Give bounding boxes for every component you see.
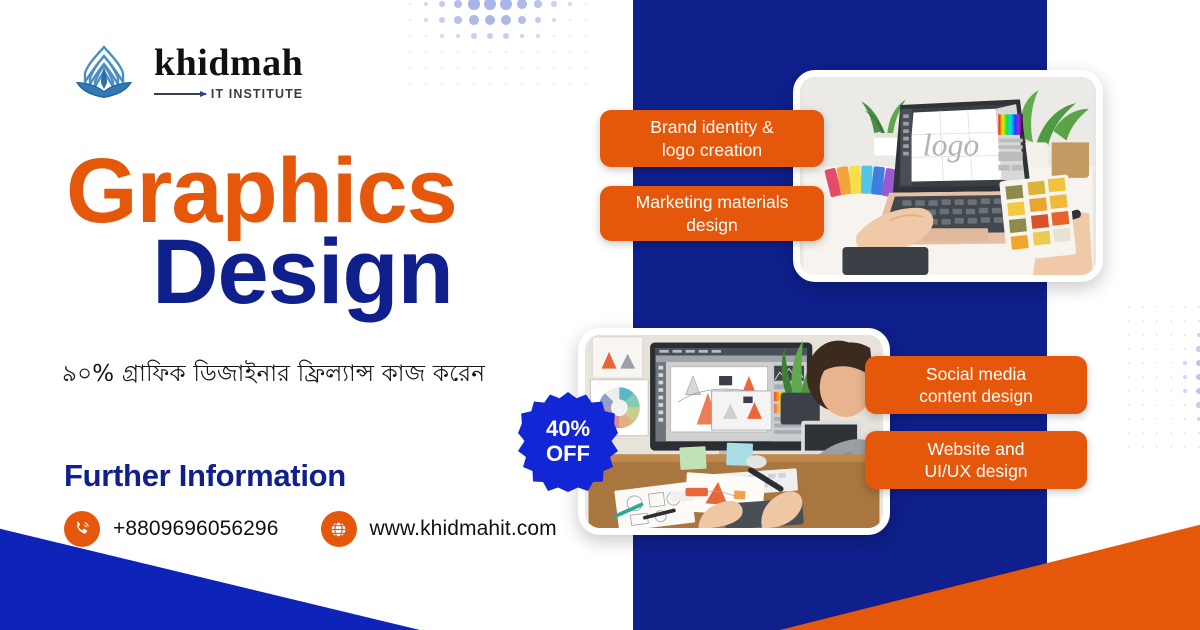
- halftone-dot: [546, 76, 562, 92]
- halftone-dot: [402, 60, 418, 76]
- halftone-dot: [562, 44, 578, 60]
- halftone-dot: [1136, 356, 1150, 370]
- halftone-dots-top: [402, 0, 594, 92]
- halftone-dot: [1136, 426, 1150, 440]
- halftone-dot: [1122, 384, 1136, 398]
- halftone-dot: [1178, 440, 1192, 454]
- halftone-dot: [1122, 412, 1136, 426]
- halftone-dot: [498, 60, 514, 76]
- brand-wordmark: khidmah IT INSTITUTE: [154, 44, 303, 101]
- halftone-dot: [1136, 412, 1150, 426]
- halftone-dot: [418, 12, 434, 28]
- contact-row: +8809696056296 www.khidmahit.com: [64, 511, 557, 547]
- phone-icon: [64, 511, 100, 547]
- svg-text:logo: logo: [923, 127, 979, 162]
- halftone-dot: [434, 28, 450, 44]
- halftone-dot: [530, 44, 546, 60]
- service-line-2: content design: [919, 386, 1033, 406]
- halftone-dot: [1178, 426, 1192, 440]
- halftone-dot: [1164, 342, 1178, 356]
- service-line-2: UI/UX design: [924, 461, 1027, 481]
- headline-line-2: Design: [66, 229, 457, 316]
- website-url: www.khidmahit.com: [370, 517, 557, 541]
- halftone-dot: [1164, 300, 1178, 314]
- halftone-dot: [450, 0, 466, 12]
- laptop-logo-design-photo: logo: [793, 70, 1103, 282]
- halftone-dot: [1122, 370, 1136, 384]
- halftone-dot: [1136, 314, 1150, 328]
- halftone-dot: [1150, 384, 1164, 398]
- halftone-dot: [1122, 342, 1136, 356]
- halftone-dot: [514, 76, 530, 92]
- halftone-dot: [530, 0, 546, 12]
- subtitle-bangla: ৯০% গ্রাফিক ডিজাইনার ফ্রিল্যান্স কাজ করে…: [62, 355, 485, 394]
- halftone-dot: [1178, 356, 1192, 370]
- halftone-dot: [546, 0, 562, 12]
- brand-logo: khidmah IT INSTITUTE: [72, 40, 303, 104]
- service-pill-text: Website and UI/UX design: [924, 438, 1027, 483]
- website-contact[interactable]: www.khidmahit.com: [321, 511, 557, 547]
- halftone-dot: [1192, 328, 1200, 342]
- halftone-dot: [1136, 398, 1150, 412]
- halftone-dot: [1164, 314, 1178, 328]
- halftone-dot: [562, 60, 578, 76]
- halftone-dot: [482, 0, 498, 12]
- halftone-dot: [402, 76, 418, 92]
- halftone-dot: [562, 28, 578, 44]
- promo-banner: khidmah IT INSTITUTE Graphics Design ৯০%…: [0, 0, 1200, 630]
- halftone-dot: [482, 60, 498, 76]
- phone-contact[interactable]: +8809696056296: [64, 511, 279, 547]
- halftone-dot: [498, 76, 514, 92]
- service-line-1: Website and: [928, 439, 1025, 459]
- halftone-dot: [514, 12, 530, 28]
- halftone-dot: [466, 60, 482, 76]
- halftone-dot: [1136, 370, 1150, 384]
- halftone-dot: [1178, 398, 1192, 412]
- halftone-dot: [514, 0, 530, 12]
- halftone-dot: [402, 28, 418, 44]
- further-information-heading: Further Information: [64, 458, 346, 494]
- halftone-dot: [1164, 328, 1178, 342]
- halftone-dot: [1150, 300, 1164, 314]
- halftone-dot: [1164, 384, 1178, 398]
- service-line-1: Marketing materials: [636, 192, 789, 212]
- halftone-dot: [1192, 384, 1200, 398]
- brand-tagline-row: IT INSTITUTE: [154, 87, 303, 101]
- halftone-dot: [498, 44, 514, 60]
- halftone-dot: [418, 76, 434, 92]
- halftone-dot: [578, 60, 594, 76]
- halftone-dot: [1164, 398, 1178, 412]
- halftone-dot: [402, 0, 418, 12]
- halftone-dot: [1122, 328, 1136, 342]
- halftone-dot: [402, 12, 418, 28]
- halftone-dot: [562, 0, 578, 12]
- halftone-dot: [466, 28, 482, 44]
- halftone-dot: [450, 28, 466, 44]
- desktop-designer-photo: 100%: [578, 328, 890, 535]
- halftone-dot: [1178, 412, 1192, 426]
- halftone-dot: [514, 28, 530, 44]
- halftone-dot: [434, 12, 450, 28]
- halftone-dot: [562, 76, 578, 92]
- service-line-2: design: [686, 215, 738, 235]
- halftone-dot: [418, 28, 434, 44]
- halftone-dot: [482, 12, 498, 28]
- halftone-dot: [1136, 342, 1150, 356]
- halftone-dot: [450, 76, 466, 92]
- halftone-dot: [1192, 426, 1200, 440]
- halftone-dot: [1122, 356, 1136, 370]
- halftone-dot: [1150, 412, 1164, 426]
- halftone-dot: [1192, 370, 1200, 384]
- brand-tagline: IT INSTITUTE: [211, 87, 303, 101]
- halftone-dot: [1192, 342, 1200, 356]
- halftone-dot: [530, 12, 546, 28]
- halftone-dot: [434, 60, 450, 76]
- halftone-dot: [578, 12, 594, 28]
- halftone-dot: [466, 0, 482, 12]
- halftone-dot: [1178, 370, 1192, 384]
- halftone-dot: [1164, 440, 1178, 454]
- halftone-dot: [482, 76, 498, 92]
- halftone-dot: [530, 60, 546, 76]
- halftone-dot: [1150, 328, 1164, 342]
- halftone-dot: [1192, 398, 1200, 412]
- halftone-dot: [482, 44, 498, 60]
- halftone-dot: [578, 0, 594, 12]
- service-pill-text: Marketing materials design: [636, 191, 789, 236]
- halftone-dot: [1192, 440, 1200, 454]
- halftone-dot: [1122, 300, 1136, 314]
- halftone-dot: [1122, 426, 1136, 440]
- halftone-dot: [514, 60, 530, 76]
- halftone-dot: [466, 76, 482, 92]
- globe-icon: [321, 511, 357, 547]
- halftone-dot: [434, 44, 450, 60]
- halftone-dot: [1164, 356, 1178, 370]
- halftone-dot: [1150, 370, 1164, 384]
- halftone-dot: [498, 0, 514, 12]
- halftone-dot: [1136, 300, 1150, 314]
- halftone-dot: [1136, 328, 1150, 342]
- halftone-dot: [546, 28, 562, 44]
- service-pill-brand-identity[interactable]: Brand identity & logo creation: [600, 110, 824, 167]
- halftone-dot: [434, 76, 450, 92]
- halftone-dot: [1150, 440, 1164, 454]
- halftone-dot: [498, 28, 514, 44]
- halftone-dot: [1178, 300, 1192, 314]
- phone-number: +8809696056296: [113, 517, 279, 541]
- halftone-dots-right: [1122, 300, 1200, 454]
- service-pill-text: Brand identity & logo creation: [650, 116, 774, 161]
- halftone-dot: [1178, 342, 1192, 356]
- tagline-rule: [154, 93, 206, 95]
- halftone-dot: [450, 60, 466, 76]
- halftone-dot: [546, 12, 562, 28]
- halftone-dot: [450, 44, 466, 60]
- halftone-dot: [1122, 440, 1136, 454]
- halftone-dot: [482, 28, 498, 44]
- halftone-dot: [1164, 426, 1178, 440]
- service-pill-website-uiux[interactable]: Website and UI/UX design: [865, 431, 1087, 489]
- halftone-dot: [1150, 398, 1164, 412]
- discount-percent: 40%: [546, 417, 590, 442]
- page-title: Graphics Design: [66, 148, 457, 317]
- brand-name: khidmah: [154, 44, 303, 82]
- halftone-dot: [1178, 384, 1192, 398]
- halftone-dot: [1164, 412, 1178, 426]
- halftone-dot: [562, 12, 578, 28]
- halftone-dot: [1192, 300, 1200, 314]
- halftone-dot: [1178, 328, 1192, 342]
- service-line-1: Brand identity &: [650, 117, 774, 137]
- halftone-dot: [546, 60, 562, 76]
- halftone-dot: [466, 44, 482, 60]
- halftone-dot: [1122, 314, 1136, 328]
- discount-label: OFF: [546, 442, 590, 467]
- service-pill-social-media[interactable]: Social media content design: [865, 356, 1087, 414]
- service-pill-marketing-materials[interactable]: Marketing materials design: [600, 186, 824, 241]
- halftone-dot: [1136, 440, 1150, 454]
- halftone-dot: [1150, 342, 1164, 356]
- halftone-dot: [1192, 356, 1200, 370]
- halftone-dot: [578, 28, 594, 44]
- halftone-dot: [530, 28, 546, 44]
- halftone-dot: [466, 12, 482, 28]
- halftone-dot: [1136, 384, 1150, 398]
- halftone-dot: [1122, 398, 1136, 412]
- halftone-dot: [450, 12, 466, 28]
- service-pill-text: Social media content design: [919, 363, 1033, 408]
- halftone-dot: [530, 76, 546, 92]
- halftone-dot: [1150, 426, 1164, 440]
- mosque-book-pen-emblem-icon: [72, 40, 136, 104]
- service-line-2: logo creation: [662, 140, 762, 160]
- halftone-dot: [418, 60, 434, 76]
- halftone-dot: [578, 44, 594, 60]
- halftone-dot: [1178, 314, 1192, 328]
- halftone-dot: [1164, 370, 1178, 384]
- halftone-dot: [434, 0, 450, 12]
- halftone-dot: [578, 76, 594, 92]
- halftone-dot: [418, 44, 434, 60]
- service-line-1: Social media: [926, 364, 1026, 384]
- halftone-dot: [514, 44, 530, 60]
- halftone-dot: [1192, 412, 1200, 426]
- halftone-dot: [1192, 314, 1200, 328]
- halftone-dot: [402, 44, 418, 60]
- halftone-dot: [546, 44, 562, 60]
- halftone-dot: [498, 12, 514, 28]
- halftone-dot: [1150, 356, 1164, 370]
- halftone-dot: [418, 0, 434, 12]
- halftone-dot: [1150, 314, 1164, 328]
- discount-badge: 40% OFF: [518, 392, 618, 492]
